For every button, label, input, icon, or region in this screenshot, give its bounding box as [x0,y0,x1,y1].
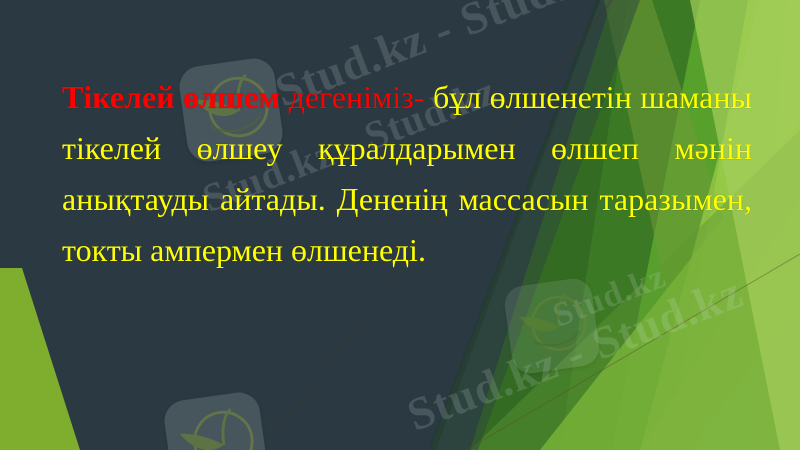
shape-left-wedge [0,268,80,450]
emphasis-word-1: Тікелей [62,79,175,115]
shape-right-pale [752,0,800,450]
stud-kz-leaf-logo-icon [162,390,270,450]
body-text-last-line: токты ампермен өлшенеді. [62,232,426,268]
emphasis-word-2: өлшем [183,79,280,115]
stud-kz-leaf-logo-icon [502,276,601,375]
presentation-slide: Stud.kz - Stud.kz Stud.kz - Stud.kz Stud… [0,0,800,450]
emphasis-word-3: дегеніміз- [289,79,425,115]
slide-body-text: Тікелей өлшем дегеніміз- бұл өлшенетін ш… [62,72,752,276]
